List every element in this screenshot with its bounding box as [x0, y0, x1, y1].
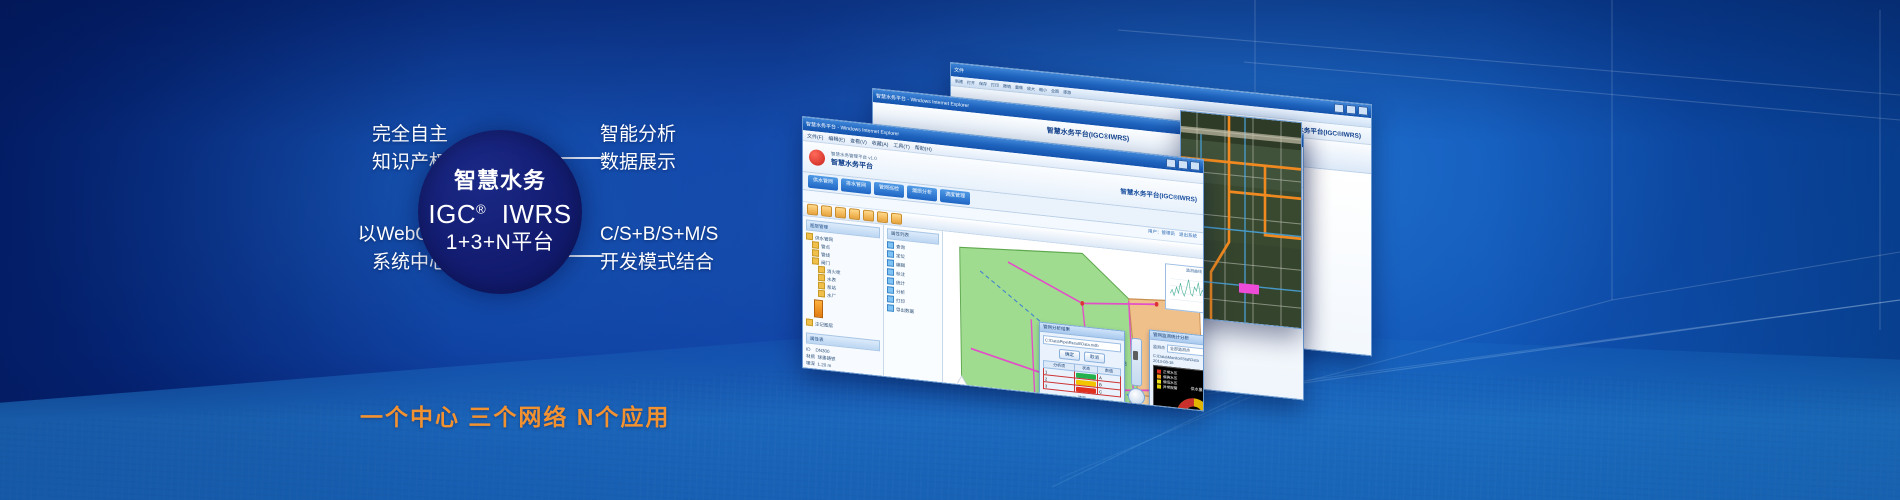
hub-product-igc: IGC — [428, 199, 476, 229]
tree-label: 管线 — [821, 252, 830, 258]
folder-icon — [812, 249, 819, 257]
zoom-in-tool-icon[interactable] — [821, 205, 832, 217]
export-icon — [887, 304, 894, 312]
tree-label: 管点 — [821, 244, 830, 250]
tree-label: 泵站 — [827, 285, 836, 291]
concept-diagram: 完全自主 知识产权 以WebGIS 系统中心 智能分析 数据展示 C/S+B/S… — [250, 95, 810, 365]
attr-row: 压力 0.32 MPa — [806, 373, 880, 388]
registered-mark-icon: ® — [476, 201, 486, 216]
menu-item-favorites[interactable]: 收藏(A) — [872, 139, 889, 148]
quickbar-item[interactable]: 新建 — [955, 78, 963, 85]
zoom-out-tool-icon[interactable] — [835, 207, 846, 219]
identify-tool-icon[interactable] — [877, 211, 888, 223]
tree-label: 注记图层 — [815, 321, 833, 328]
close-icon[interactable] — [1358, 106, 1368, 116]
function-label: 编辑 — [896, 262, 905, 268]
tagline: 一个中心 三个网络 N个应用 — [360, 398, 670, 432]
hub-product-iwrs: IWRS — [502, 199, 572, 229]
window2-platform-title: 智慧水务平台(IGC®IWRS) — [1047, 125, 1130, 144]
quickbar-item[interactable]: 撤销 — [1003, 83, 1011, 90]
monitor-dialog-body: 监测点 全部监测点 C:\Data\Monitor\Stat\Data 2013… — [1150, 340, 1203, 412]
tree-label: 阀门 — [821, 260, 830, 266]
node-top-left: 完全自主 知识产权 — [298, 121, 448, 176]
folder-icon — [818, 274, 825, 282]
brand-block: 智慧水务管理平台 v1.0 智慧水务平台 — [831, 151, 877, 172]
tree-item[interactable]: 注记图层 — [806, 318, 880, 334]
legend-swatch-orange — [1157, 374, 1161, 378]
label-icon — [887, 268, 894, 276]
attr-row: 状态 正常 — [806, 380, 880, 395]
tree-label: 水表 — [827, 277, 836, 283]
analysis-icon — [887, 286, 894, 294]
ok-button[interactable]: 确定 — [1059, 349, 1080, 361]
close-icon[interactable] — [1190, 161, 1200, 171]
function-label: 标注 — [896, 271, 905, 277]
node-top-left-line1: 完全自主 — [298, 121, 448, 149]
folder-icon — [812, 257, 819, 265]
layer-tree[interactable]: 供水管网 管点 管线 阀门 消火栓 水表 泵站 水厂 注记图层 — [806, 232, 880, 334]
quickbar-item[interactable]: 放大 — [1027, 85, 1035, 92]
monitor-field-label: 监测点 — [1153, 344, 1165, 351]
monitor-line-chart — [1166, 271, 1203, 311]
quickbar-item[interactable]: 全图 — [1051, 88, 1059, 95]
quickbar-item[interactable]: 保存 — [979, 80, 987, 87]
quickbar-item[interactable]: 打开 — [967, 79, 975, 86]
maximize-icon[interactable] — [1346, 105, 1356, 115]
monitor-dialog[interactable]: 管网监测统计分析 监测点 全部监测点 C:\Data\Monitor\Stat\… — [1149, 329, 1203, 411]
locate-icon — [887, 250, 894, 258]
donut-gauge-icon — [1172, 390, 1203, 411]
water-drop-logo-icon — [809, 149, 825, 167]
analysis-dialog-body: C:\Data\Pipe\Result\Data.mdb 确定 取消 分析项 状… — [1040, 332, 1124, 409]
menu-item-file[interactable]: 文件(F) — [807, 132, 823, 141]
zoom-slider-knob[interactable] — [1133, 351, 1138, 361]
stats-icon — [887, 277, 894, 285]
folder-icon — [812, 241, 819, 249]
function-label: 查询 — [896, 244, 905, 250]
legend-swatch-red — [1157, 369, 1161, 373]
nav-item[interactable]: 调度管理 — [940, 189, 970, 205]
minimize-icon[interactable] — [1334, 103, 1344, 113]
analysis-dialog[interactable]: 管网分析结果 C:\Data\Pipe\Result\Data.mdb 确定 取… — [1039, 322, 1125, 410]
function-label: 统计 — [896, 280, 905, 286]
menu-item-view[interactable]: 查看(V) — [850, 137, 867, 146]
monitor-chart-panel[interactable]: 监测曲线 — [1165, 263, 1203, 315]
legend-swatch — [814, 299, 823, 318]
measure-tool-icon[interactable] — [863, 210, 874, 222]
gauge-legend: 正常水压 偏高水压 偏低水压 异常报警 — [1157, 369, 1177, 391]
node-top-right-line2: 数据展示 — [600, 149, 810, 177]
window1-platform-title: 智慧水务平台(IGC®IWRS) — [1120, 185, 1197, 203]
nav-item[interactable]: 漏损分析 — [907, 185, 937, 201]
quickbar-item[interactable]: 缩小 — [1039, 86, 1047, 93]
node-top-right-line1: 智能分析 — [600, 121, 810, 149]
hub-product: IGC® IWRS — [428, 200, 571, 229]
nav-item[interactable]: 排水管网 — [841, 178, 871, 194]
quickbar-item[interactable]: 重做 — [1015, 84, 1023, 91]
menu-item-tools[interactable]: 工具(T) — [893, 141, 909, 150]
function-panel[interactable]: 属性列表 查询 定位 编辑 标注 统计 分析 打印 导出数据 — [884, 225, 943, 412]
menu-item-help[interactable]: 帮助(H) — [915, 144, 932, 153]
nav-item[interactable]: 管网巡检 — [874, 182, 904, 198]
folder-icon — [818, 290, 825, 298]
attribute-mini-table[interactable]: ID DN300 材质 球墨铸铁 埋深 1.20 m 长度 86.4 m 压力 … — [806, 345, 880, 395]
cell-value: C — [1098, 387, 1121, 396]
node-top-right: 智能分析 数据展示 — [600, 121, 810, 176]
folder-icon — [818, 266, 825, 274]
query-icon — [887, 241, 894, 249]
hub-title: 智慧水务 — [454, 169, 546, 194]
folder-icon — [806, 232, 813, 240]
node-top-left-line2: 知识产权 — [298, 149, 448, 177]
function-label: 定位 — [896, 253, 905, 259]
node-bottom-left-line2: 系统中心 — [278, 249, 448, 277]
svg-text:居民区: 居民区 — [1032, 403, 1044, 411]
folder-icon — [806, 318, 813, 326]
screenshot-group: 文件 新建 打开 保存 打印 撤销 重做 放大 缩小 全图 漫游 — [780, 30, 1900, 450]
layer-panel[interactable]: 图层管理 供水管网 管点 管线 阀门 消火栓 水表 泵站 水厂 注记图层 属性表 — [803, 216, 884, 411]
quickbar-item[interactable]: 打印 — [991, 82, 999, 89]
status-swatch-red — [1076, 386, 1096, 393]
map-canvas[interactable]: 水厂一区 加压泵站 居民区 工业园 城南水厂管网示意 — [943, 231, 1203, 411]
menu-item-edit[interactable]: 编辑(E) — [828, 134, 845, 143]
minimize-icon[interactable] — [1166, 158, 1176, 168]
app-window-1[interactable]: 智慧水务平台 - Windows Internet Explorer 文件(F)… — [802, 116, 1204, 411]
maximize-icon[interactable] — [1178, 160, 1188, 170]
cancel-button[interactable]: 取消 — [1084, 351, 1105, 363]
function-label: 分析 — [896, 289, 905, 295]
zoom-slider[interactable] — [1131, 338, 1142, 387]
folder-icon — [818, 282, 825, 290]
edit-icon — [887, 259, 894, 267]
pointer-tool-icon[interactable] — [807, 204, 818, 216]
tree-label: 水厂 — [827, 293, 836, 299]
nav-item[interactable]: 供水管网 — [808, 175, 838, 191]
subnav-item[interactable]: 用户：管理员 — [1148, 228, 1175, 240]
subnav-item[interactable]: 退出系统 — [1179, 232, 1197, 243]
function-label: 打印 — [896, 298, 905, 304]
legend-swatch-yellow — [1157, 379, 1161, 383]
print-icon — [887, 295, 894, 303]
cell-status — [1075, 385, 1098, 394]
window3-title: 文件 — [954, 66, 964, 74]
hub-circle: 智慧水务 IGC® IWRS 1+3+N平台 — [418, 130, 582, 294]
quickbar-item[interactable]: 漫游 — [1063, 89, 1071, 96]
legend-swatch-gold — [1157, 384, 1161, 388]
function-label: 导出数据 — [896, 307, 914, 314]
hub-platform: 1+3+N平台 — [446, 231, 555, 255]
pan-tool-icon[interactable] — [849, 208, 860, 220]
print-tool-icon[interactable] — [891, 213, 902, 225]
pressure-gauge-panel: 正常水压 偏高水压 偏低水压 异常报警 供水量 532.25 — [1153, 365, 1203, 412]
banner-stage: 完全自主 知识产权 以WebGIS 系统中心 智能分析 数据展示 C/S+B/S… — [0, 0, 1900, 500]
